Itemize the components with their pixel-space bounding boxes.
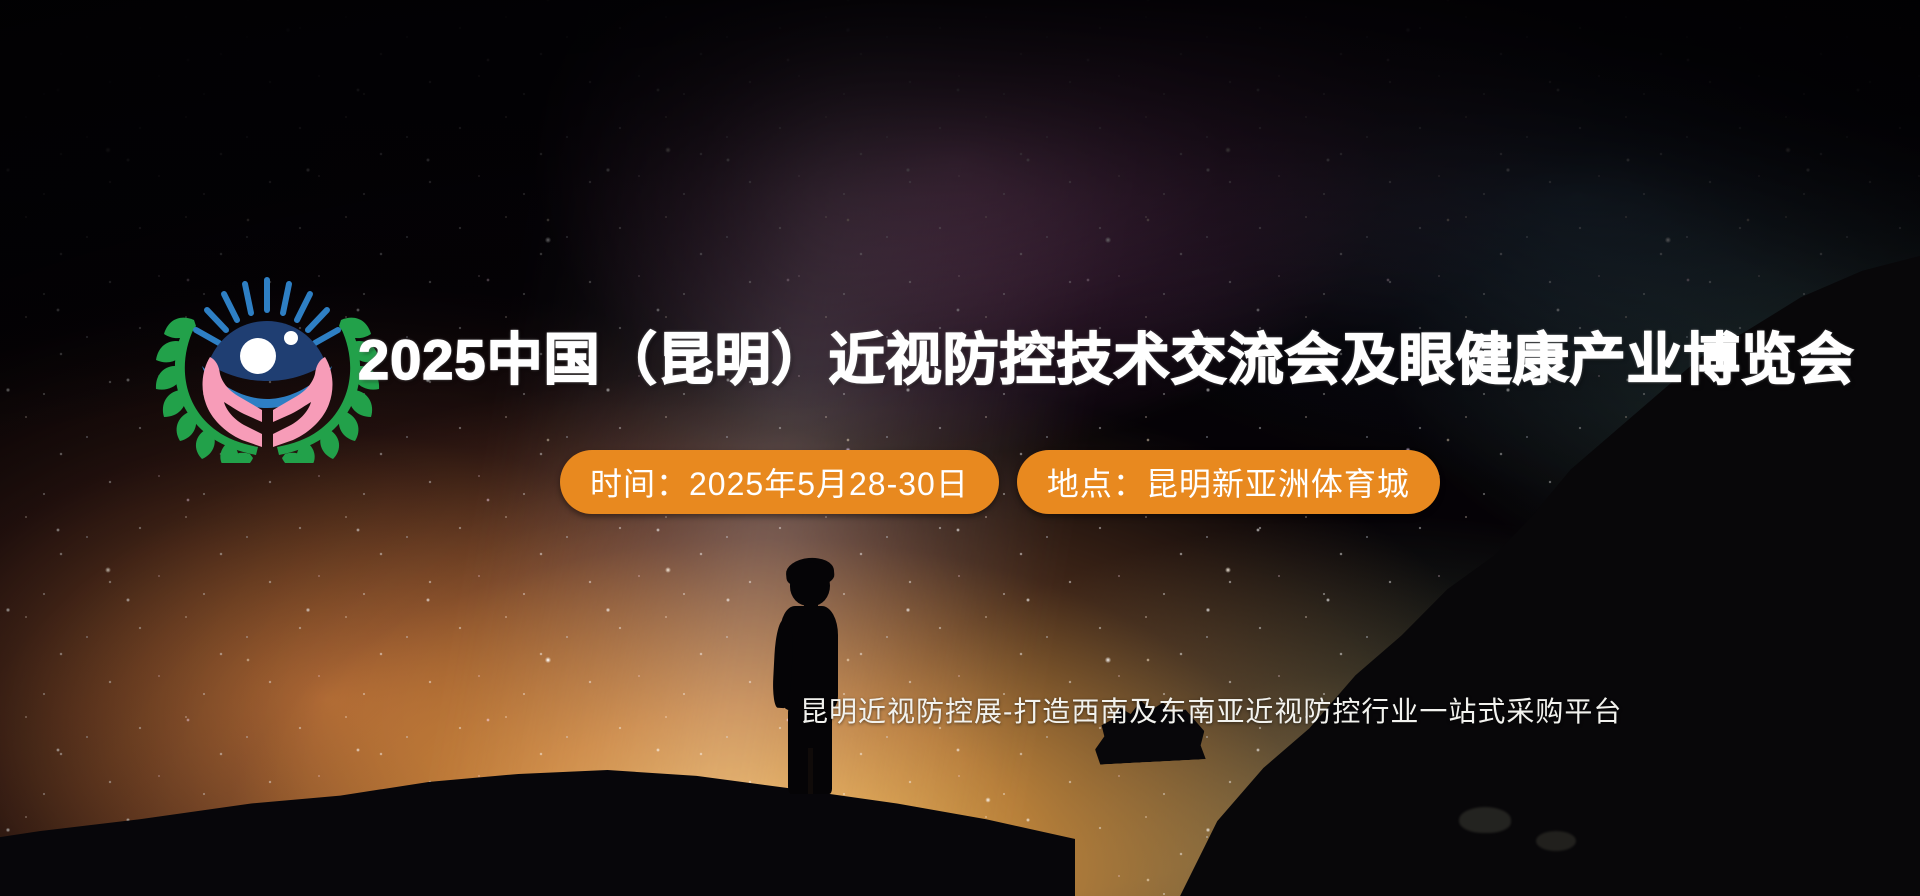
eye-pupil bbox=[240, 338, 276, 374]
person-silhouette bbox=[760, 562, 860, 792]
rock-silhouette bbox=[1459, 807, 1511, 833]
page-title: 2025中国（昆明）近视防控技术交流会及眼健康产业博览会 bbox=[358, 332, 1518, 388]
event-banner: 2025中国（昆明）近视防控技术交流会及眼健康产业博览会 时间：2025年5月2… bbox=[0, 0, 1920, 896]
person-leg-split bbox=[808, 748, 813, 794]
eye-highlight bbox=[284, 331, 298, 345]
event-time-badge: 时间：2025年5月28-30日 bbox=[560, 450, 999, 514]
event-tagline: 昆明近视防控展-打造西南及东南亚近视防控行业一站式采购平台 bbox=[800, 690, 1622, 730]
event-location-badge: 地点：昆明新亚洲体育城 bbox=[1017, 450, 1440, 514]
eye-in-hands-laurel-logo bbox=[150, 258, 385, 463]
event-info-pills: 时间：2025年5月28-30日 地点：昆明新亚洲体育城 bbox=[560, 450, 1440, 514]
